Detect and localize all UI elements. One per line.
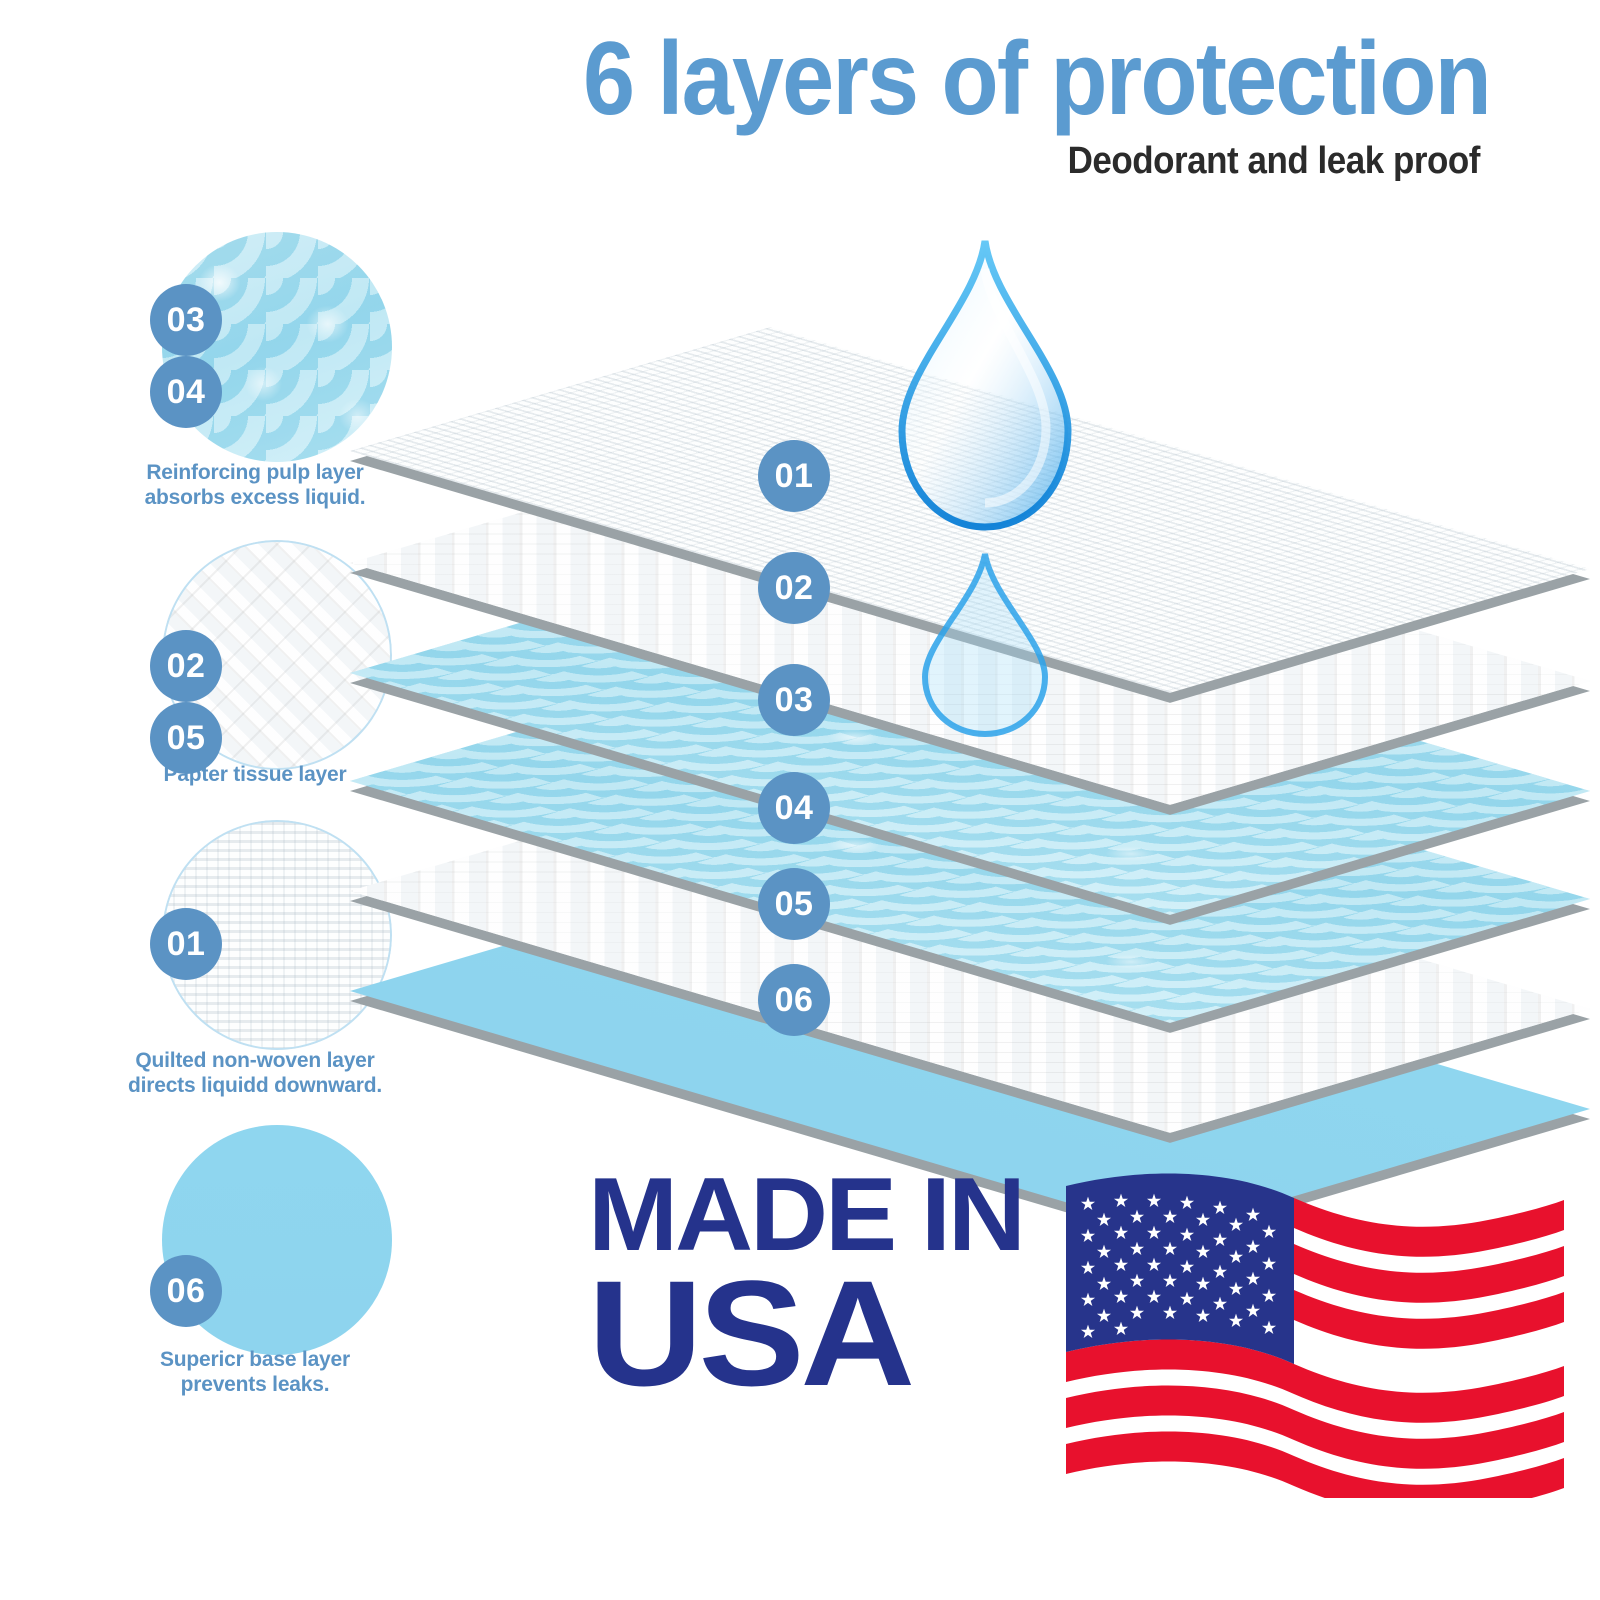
stack-badge-02: 02 (758, 552, 830, 624)
badge-04: 04 (150, 356, 222, 428)
us-flag-icon (1058, 1168, 1568, 1498)
infographic-canvas: 6 layers of protection Deodorant and lea… (0, 0, 1600, 1600)
stack-badge-06: 06 (758, 964, 830, 1036)
stack-layer-01 (560, 300, 1380, 720)
caption-nonwoven-line2: directs liquidd downward. (45, 1073, 465, 1098)
feature-card-base: 06 Supericr base layer prevents leaks. (110, 1125, 530, 1355)
flag-canton (1066, 1174, 1294, 1365)
badge-02: 02 (150, 630, 222, 702)
made-in-usa-wordmark: MADE IN USA (588, 1168, 1058, 1402)
badge-03: 03 (150, 284, 222, 356)
usa-text: USA (588, 1264, 1086, 1402)
page-title: 6 layers of protection (149, 26, 1490, 132)
caption-base-line1: Supericr base layer (45, 1347, 465, 1372)
badge-06: 06 (150, 1255, 222, 1327)
caption-nonwoven-line1: Quilted non-woven layer (45, 1048, 465, 1073)
stack-badge-01: 01 (758, 440, 830, 512)
caption-base-line2: prevents leaks. (45, 1372, 465, 1397)
badge-05: 05 (150, 702, 222, 774)
caption-pulp-line2: absorbs excess liquid. (45, 485, 465, 510)
stack-badge-05: 05 (758, 868, 830, 940)
stack-badge-03: 03 (758, 664, 830, 736)
layer-stack-diagram: 01 02 03 04 05 06 (560, 300, 1480, 1200)
badge-01: 01 (150, 908, 222, 980)
page-subtitle: Deodorant and leak proof (118, 140, 1480, 183)
stack-badge-04: 04 (758, 772, 830, 844)
